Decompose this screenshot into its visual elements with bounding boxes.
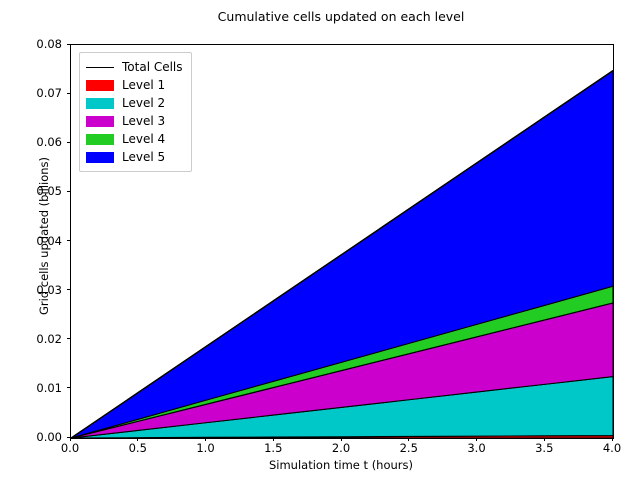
- y-axis-label: Grid cells updated (billions): [37, 106, 51, 366]
- x-tick-label: 2.0: [311, 442, 371, 455]
- legend-color-swatch: [86, 134, 114, 145]
- legend-item[interactable]: Total Cells: [86, 58, 183, 76]
- legend-color-swatch: [86, 80, 114, 91]
- x-tick-label: 3.5: [514, 442, 574, 455]
- legend-item-label: Level 1: [122, 78, 165, 92]
- legend-item[interactable]: Level 1: [86, 76, 183, 94]
- x-tick-label: 1.0: [176, 442, 236, 455]
- y-tick-label: 0.04: [6, 235, 62, 247]
- y-tick-label: 0.03: [6, 284, 62, 296]
- y-tick-label: 0.08: [6, 38, 62, 50]
- x-tick-label: 0.0: [40, 442, 100, 455]
- y-tick-label: 0.01: [6, 382, 62, 394]
- x-tick-label: 3.0: [447, 442, 507, 455]
- y-tick-label: 0.02: [6, 333, 62, 345]
- x-tick-label: 0.5: [108, 442, 168, 455]
- legend-line-icon: [86, 62, 114, 73]
- legend-color-swatch: [86, 116, 114, 127]
- chart-legend: Total CellsLevel 1Level 2Level 3Level 4L…: [79, 52, 192, 172]
- legend-item[interactable]: Level 5: [86, 148, 183, 166]
- legend-line-stroke: [86, 67, 114, 68]
- legend-item-label: Total Cells: [122, 60, 183, 74]
- legend-item-label: Level 5: [122, 150, 165, 164]
- legend-color-swatch: [86, 98, 114, 109]
- legend-item-label: Level 4: [122, 132, 165, 146]
- y-tick-label: 0.05: [6, 185, 62, 197]
- x-tick-label: 2.5: [379, 442, 439, 455]
- y-tick-label: 0.07: [6, 87, 62, 99]
- legend-item[interactable]: Level 3: [86, 112, 183, 130]
- y-axis-tick-labels: 0.000.010.020.030.040.050.060.070.08: [0, 0, 62, 480]
- x-tick-label: 4.0: [582, 442, 640, 455]
- legend-color-swatch: [86, 152, 114, 163]
- legend-item[interactable]: Level 4: [86, 130, 183, 148]
- legend-item-label: Level 2: [122, 96, 165, 110]
- legend-item[interactable]: Level 2: [86, 94, 183, 112]
- x-tick-label: 1.5: [243, 442, 303, 455]
- y-tick-label: 0.06: [6, 136, 62, 148]
- chart-title: Cumulative cells updated on each level: [70, 9, 612, 25]
- legend-item-label: Level 3: [122, 114, 165, 128]
- chart-figure: Cumulative cells updated on each level 0…: [0, 0, 640, 480]
- x-axis-label: Simulation time t (hours): [70, 458, 612, 472]
